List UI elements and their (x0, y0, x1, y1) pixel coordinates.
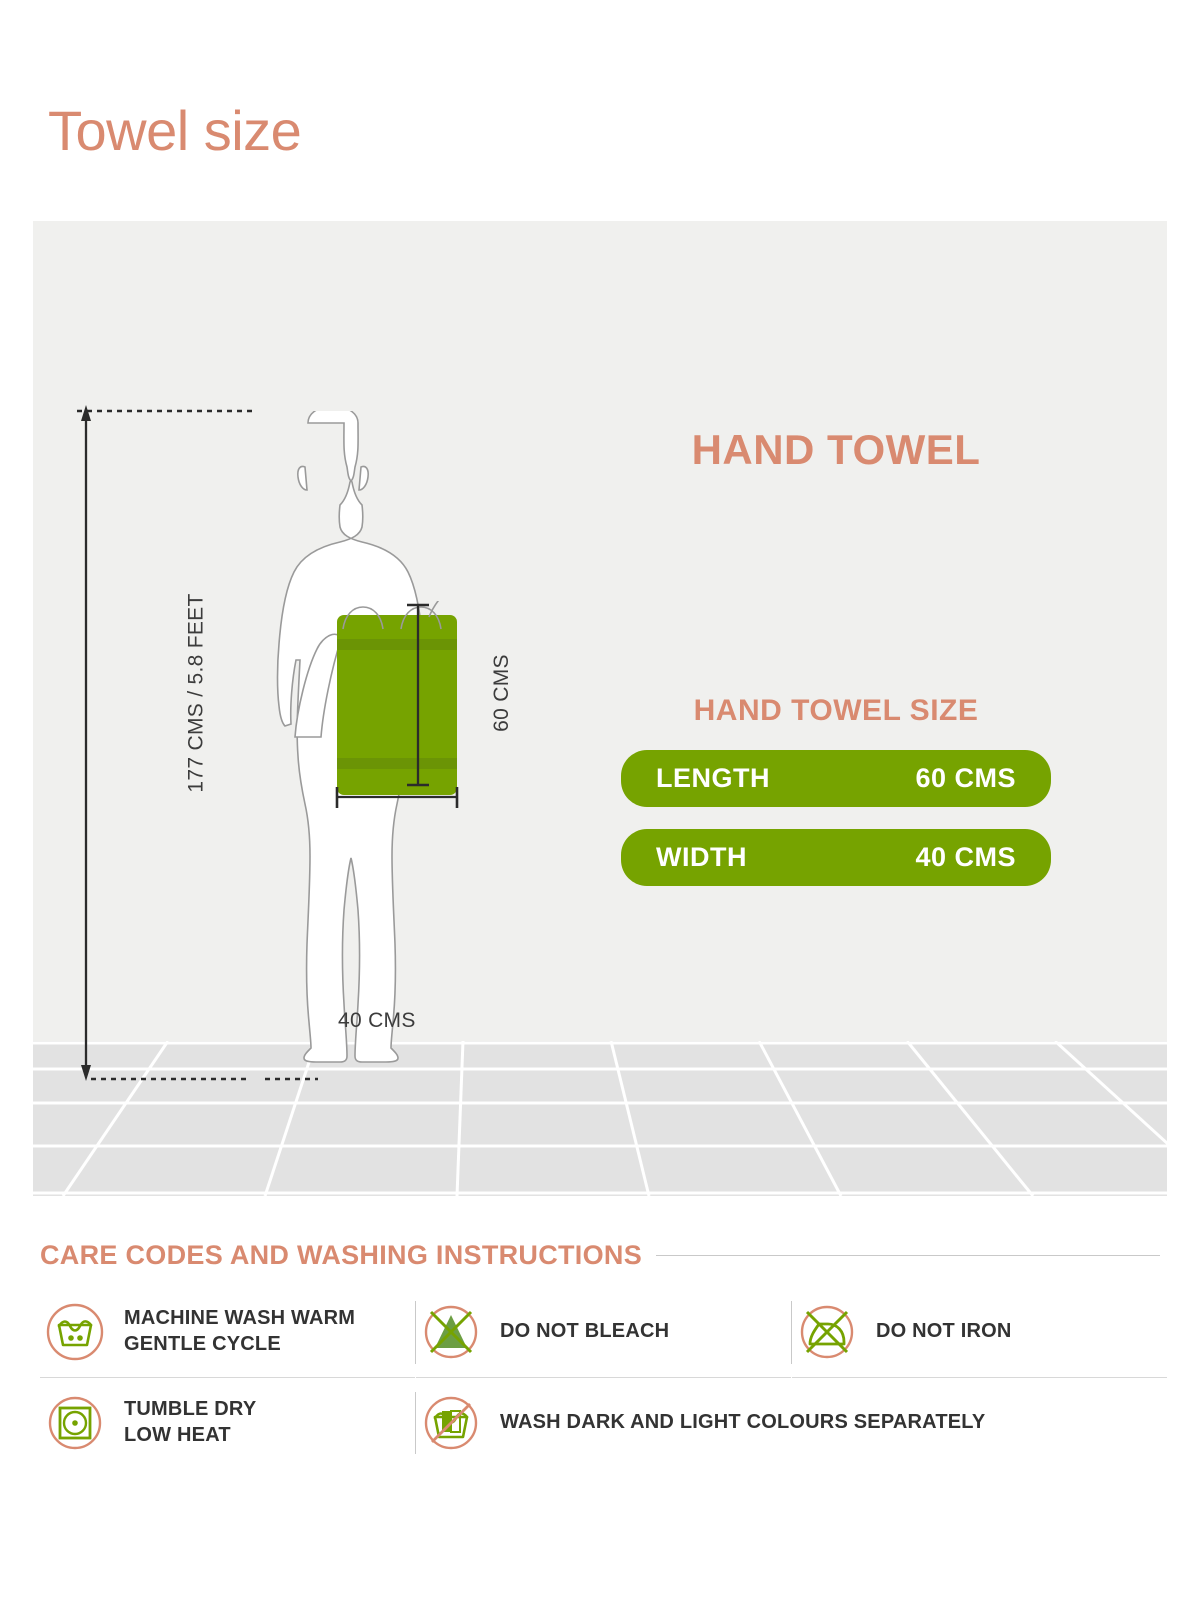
size-table-heading: HAND TOWEL SIZE (621, 694, 1051, 728)
wash-separately-icon (420, 1392, 482, 1454)
care-section-title: CARE CODES AND WASHING INSTRUCTIONS (40, 1240, 642, 1271)
size-row-width-label: WIDTH (656, 842, 747, 873)
product-info-column: HAND TOWEL HAND TOWEL SIZE LENGTH 60 CMS… (621, 426, 1051, 886)
care-items-grid: MACHINE WASH WARM GENTLE CYCLE DO NOT BL… (40, 1287, 1160, 1468)
care-item-machine-wash: MACHINE WASH WARM GENTLE CYCLE (40, 1287, 415, 1378)
care-item-tumble-dry-label: TUMBLE DRY LOW HEAT (124, 1397, 256, 1448)
size-row-length-label: LENGTH (656, 763, 770, 794)
size-row-width: WIDTH 40 CMS (621, 829, 1051, 886)
size-row-length: LENGTH 60 CMS (621, 750, 1051, 807)
page-title: Towel size (48, 103, 301, 159)
care-item-wash-separately: WASH DARK AND LIGHT COLOURS SEPARATELY (416, 1378, 1167, 1468)
care-item-machine-wash-label: MACHINE WASH WARM GENTLE CYCLE (124, 1306, 355, 1357)
person-height-label: 177 CMS / 5.8 FEET (185, 593, 209, 792)
figure-diagram: 177 CMS / 5.8 FEET 60 CMS 40 CMS (133, 411, 533, 1111)
care-item-do-not-bleach: DO NOT BLEACH (416, 1287, 791, 1378)
towel-width-label: 40 CMS (338, 1009, 416, 1033)
care-item-do-not-bleach-label: DO NOT BLEACH (500, 1319, 669, 1345)
product-heading: HAND TOWEL (621, 426, 1051, 474)
towel-size-infographic: Towel size (0, 0, 1200, 1600)
towel-height-label: 60 CMS (490, 654, 514, 732)
hero-panel: 177 CMS / 5.8 FEET 60 CMS 40 CMS HAND TO… (33, 221, 1167, 1196)
do-not-iron-icon (796, 1301, 858, 1363)
size-row-width-value: 40 CMS (915, 842, 1016, 873)
care-item-do-not-iron: DO NOT IRON (792, 1287, 1167, 1378)
care-section: CARE CODES AND WASHING INSTRUCTIONS MACH… (40, 1240, 1160, 1468)
care-header-divider (656, 1255, 1160, 1256)
care-item-do-not-iron-label: DO NOT IRON (876, 1319, 1012, 1345)
do-not-bleach-icon (420, 1301, 482, 1363)
care-item-wash-separately-label: WASH DARK AND LIGHT COLOURS SEPARATELY (500, 1410, 985, 1436)
machine-wash-warm-icon (44, 1301, 106, 1363)
dimension-lines (53, 401, 573, 1101)
size-row-length-value: 60 CMS (915, 763, 1016, 794)
tumble-dry-low-heat-icon (44, 1392, 106, 1454)
care-item-tumble-dry: TUMBLE DRY LOW HEAT (40, 1378, 415, 1468)
care-section-header: CARE CODES AND WASHING INSTRUCTIONS (40, 1240, 1160, 1271)
